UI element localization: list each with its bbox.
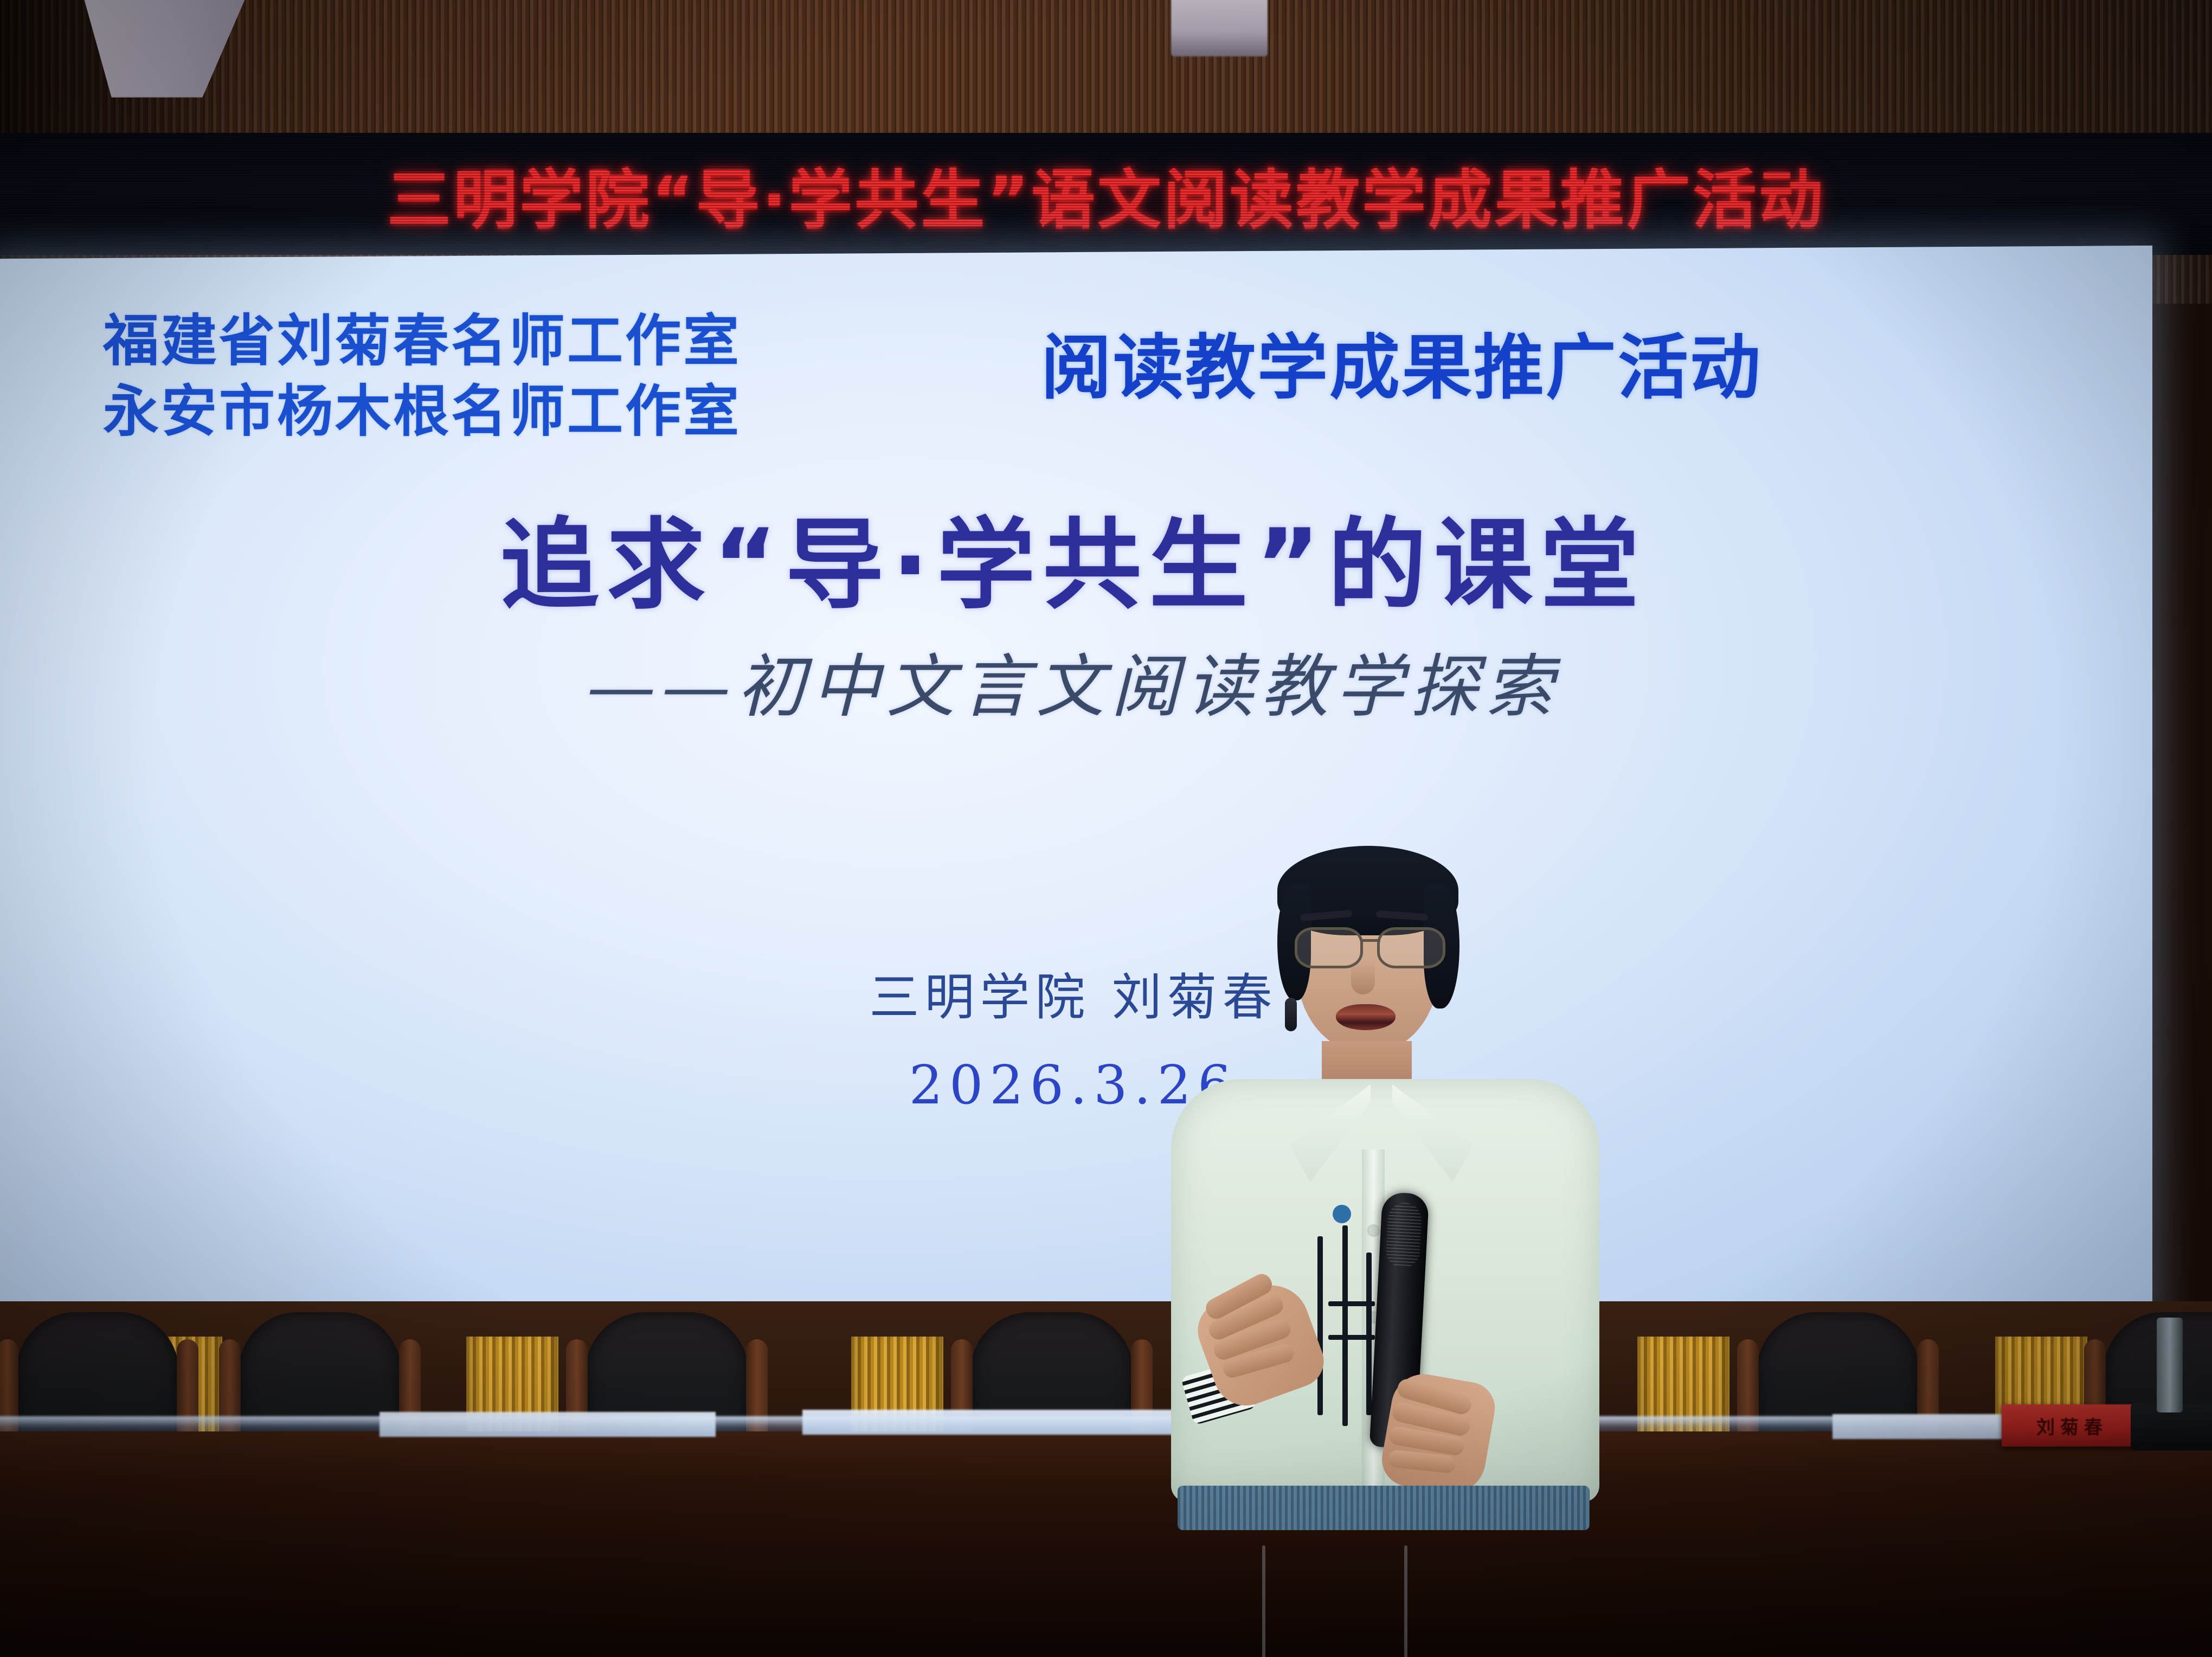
- earring: [1285, 998, 1297, 1031]
- projection-screen: 福建省刘菊春名师工作室 永安市杨木根名师工作室 阅读教学成果推广活动 追求“导·…: [0, 246, 2152, 1335]
- slide-main-title: 追求“导·学共生”的课堂: [0, 485, 2152, 628]
- wall-speaker-box: [1171, 0, 1268, 56]
- trousers: [1178, 1491, 1590, 1657]
- document-on-table: [380, 1412, 716, 1437]
- led-banner-text: 三明学院“导·学共生”语文阅读教学成果推广活动: [0, 147, 2212, 240]
- nose: [1351, 961, 1375, 994]
- glasses-bridge: [1361, 939, 1380, 942]
- document-on-table: [802, 1410, 1182, 1435]
- trouser-seam: [1262, 1545, 1265, 1657]
- microphone-stand-arm: [2157, 1318, 2183, 1412]
- led-banner: 三明学院“导·学共生”语文阅读教学成果推广活动: [0, 133, 2212, 255]
- slide-event-title: 阅读教学成果推广活动: [1041, 311, 1762, 413]
- workshop-line-2: 永安市杨木根名师工作室: [103, 377, 741, 447]
- slide-workshop-names: 福建省刘菊春名师工作室 永安市杨木根名师工作室: [103, 306, 741, 447]
- slide-presenter-line: 三明学院 刘菊春: [0, 957, 2152, 1029]
- lens-right: [1377, 927, 1445, 968]
- presenter-figure: [1149, 846, 1626, 1657]
- workshop-line-1: 福建省刘菊春名师工作室: [103, 306, 741, 377]
- mouth: [1336, 1004, 1396, 1030]
- conference-photo-scene: 三明学院“导·学共生”语文阅读教学成果推广活动 福建省刘菊春名师工作室 永安市杨…: [0, 0, 2212, 1657]
- eyeglasses: [1291, 927, 1449, 965]
- name-plate: 刘菊春: [2002, 1404, 2143, 1447]
- trouser-seam: [1404, 1545, 1407, 1657]
- slide-sub-title: ——初中文言文阅读教学探索: [0, 632, 2152, 730]
- microphone-grill: [1385, 1202, 1422, 1269]
- slide-date: 2026.3.26: [0, 1055, 2152, 1116]
- stage-table: [0, 1431, 2212, 1657]
